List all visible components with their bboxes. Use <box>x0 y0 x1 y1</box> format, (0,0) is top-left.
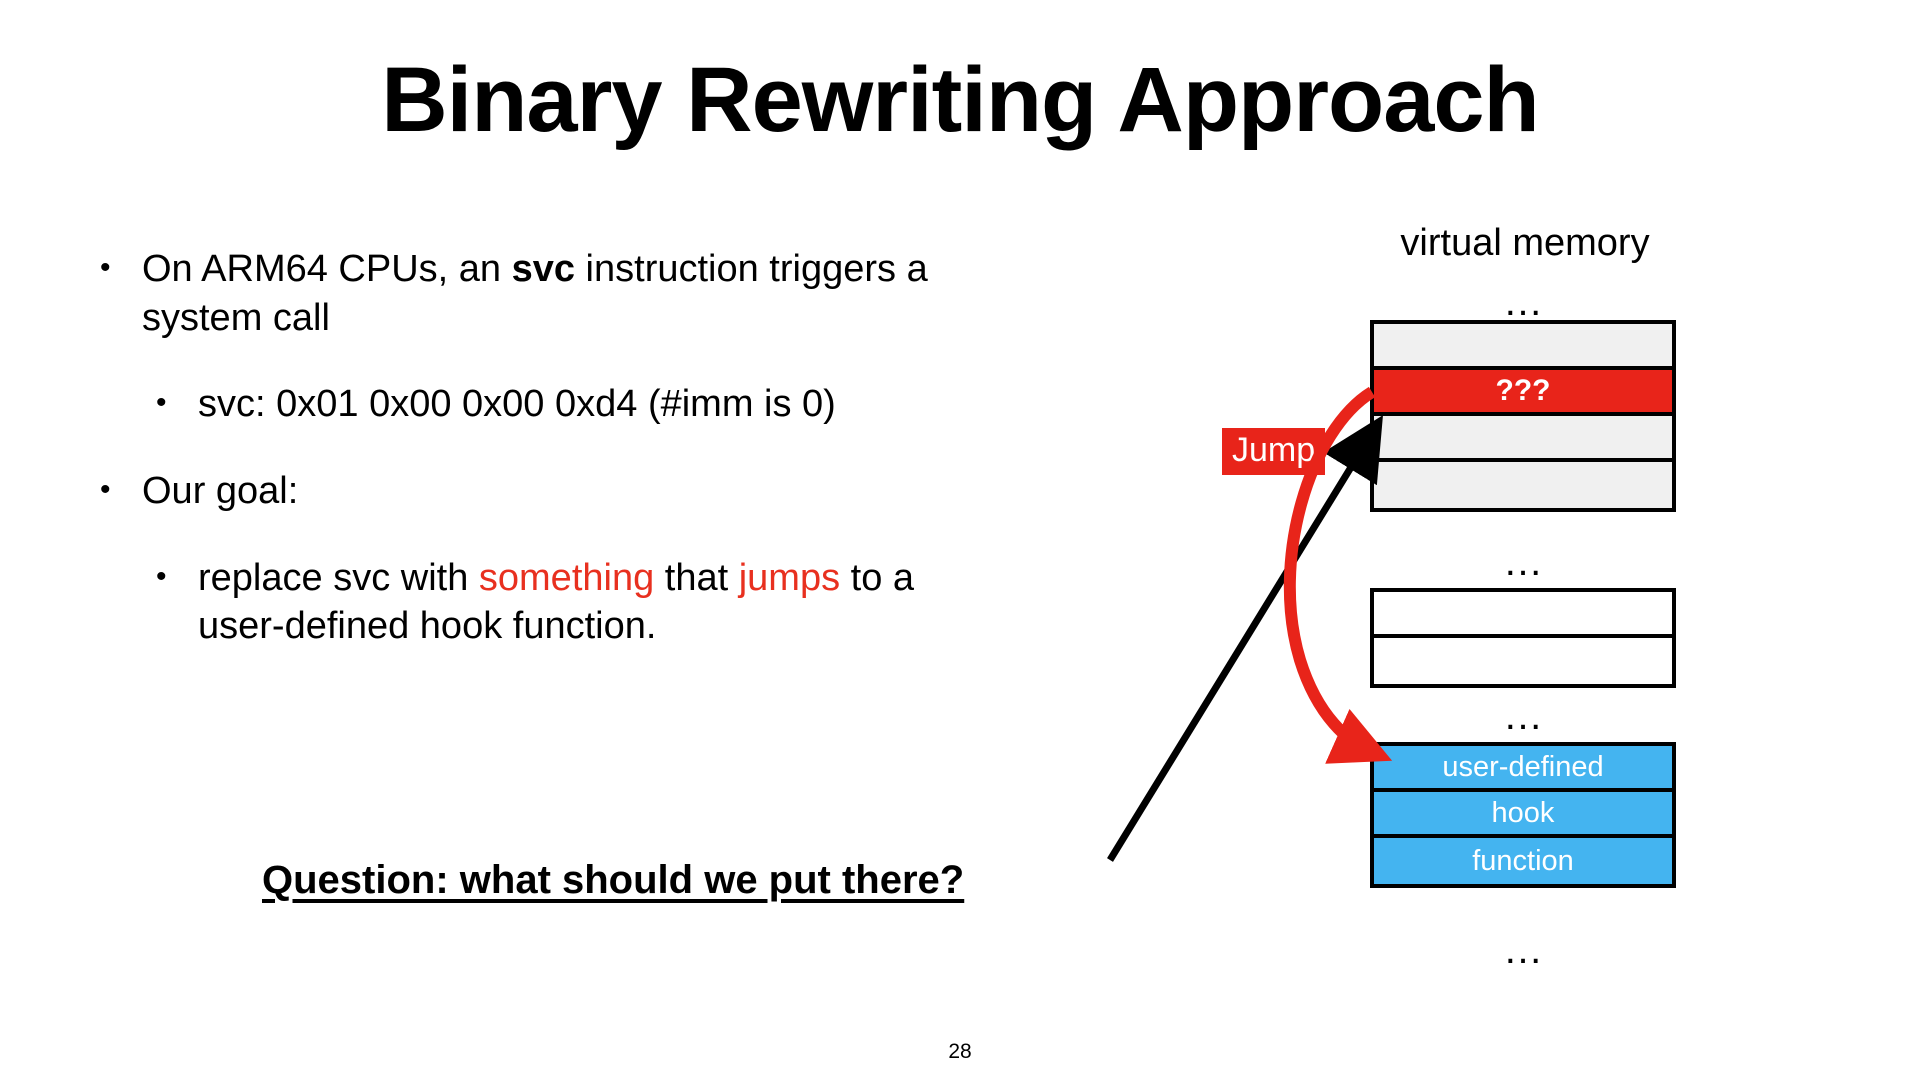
virtual-memory-caption: virtual memory <box>1370 222 1680 265</box>
bullet-marker-icon: • <box>156 554 198 601</box>
bullet-4-part-a: replace svc with <box>198 557 479 599</box>
list-item: • replace svc with something that jumps … <box>156 554 980 651</box>
memory-region-top: ??? <box>1370 320 1676 512</box>
bullet-marker-icon: • <box>100 467 142 514</box>
bullet-marker-icon: • <box>156 380 198 427</box>
bullet-marker-icon: • <box>100 245 142 292</box>
bullet-4-keyword-something: something <box>479 557 654 599</box>
ellipsis-above-hook-region: … <box>1370 696 1680 736</box>
list-item-text: svc: 0x01 0x00 0x00 0xd4 (#imm is 0) <box>198 380 980 429</box>
memory-cell <box>1374 462 1672 508</box>
hook-line-2: hook <box>1374 792 1672 838</box>
pointer-arrow-icon <box>1110 433 1372 860</box>
memory-cell <box>1374 416 1672 462</box>
ellipsis-between-regions: … <box>1370 542 1680 582</box>
memory-cell <box>1374 638 1672 684</box>
memory-region-middle <box>1370 588 1676 688</box>
ellipsis-below-hook-region: … <box>1370 930 1680 970</box>
memory-cell <box>1374 324 1672 370</box>
list-item: • svc: 0x01 0x00 0x00 0xd4 (#imm is 0) <box>156 380 980 429</box>
bullet-1-keyword-svc: svc <box>512 248 575 290</box>
hook-line-3: function <box>1374 838 1672 884</box>
memory-cell-unknown: ??? <box>1374 370 1672 416</box>
bullet-4-part-c: that <box>654 557 739 599</box>
memory-cell <box>1374 592 1672 638</box>
list-item: • Our goal: <box>100 467 980 516</box>
memory-region-hook-function: user-defined hook function <box>1370 742 1676 888</box>
jump-label: Jump <box>1222 428 1325 475</box>
bullet-1-part-a: On ARM64 CPUs, an <box>142 248 512 290</box>
list-item-text: Our goal: <box>142 467 980 516</box>
page-number: 28 <box>0 1040 1920 1064</box>
bullet-list: • On ARM64 CPUs, an svc instruction trig… <box>100 245 980 689</box>
list-item: • On ARM64 CPUs, an svc instruction trig… <box>100 245 980 342</box>
question-callout: Question: what should we put there? <box>262 858 964 903</box>
ellipsis-above-top-region: … <box>1370 282 1680 322</box>
hook-line-1: user-defined <box>1374 746 1672 792</box>
bullet-4-keyword-jumps: jumps <box>739 557 840 599</box>
list-item-text: On ARM64 CPUs, an svc instruction trigge… <box>142 245 980 342</box>
list-item-text: replace svc with something that jumps to… <box>198 554 980 651</box>
page-title: Binary Rewriting Approach <box>0 52 1920 149</box>
